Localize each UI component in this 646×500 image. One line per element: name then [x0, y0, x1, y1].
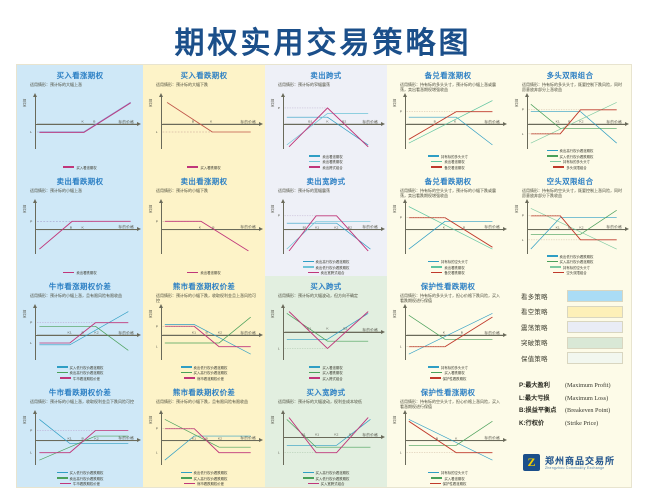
legend-label: 买入高行权价看涨期权: [560, 259, 594, 264]
legend-entry: 卖出看跌期权: [309, 159, 342, 164]
cell-title: 买入跨式: [268, 282, 384, 291]
legend-label: 卖出看跌期权: [76, 270, 96, 275]
curve-legend: 卖出低行权价看跌期权 买入高行权价看跌期权 熊市看跌期权价差: [143, 470, 265, 486]
strategy-cell-bear-call-spread[interactable]: 熊市看涨期权价差 适用情形：预计标的小幅下跌，收取权利金且上涨风险可控 损益 标…: [143, 276, 265, 382]
grid-column-1: 买入看涨期权 适用情形：预计标的大幅上涨 损益 标的价格 K B L: [17, 65, 143, 487]
legend-name: 突破策略: [521, 338, 561, 347]
legend-panel: 看多策略 看空策略 震荡策略 突破策略 保值策略: [509, 276, 631, 487]
curve-legend: 持有标的空头头寸 买入看涨期权 保护性看涨期权: [387, 470, 509, 486]
payoff-plot: 损益 标的价格 K B L: [23, 95, 140, 151]
payoff-curve: B K P: [393, 95, 506, 151]
grid-column-3: 卖出跨式 适用情形：预计标的窄幅震荡 损益 标的价格 B1 K: [265, 65, 387, 487]
payoff-plot: 损益 标的价格 K1 B K2 P L: [149, 412, 262, 468]
strategy-cell-short-strangle[interactable]: 卖出宽跨式 适用情形：预计标的宽幅震荡 损益 标的价格 B1 K1: [265, 171, 387, 277]
cell-desc: 适用情形：预计标的小幅下跌: [156, 188, 258, 193]
legend-name: 看空策略: [521, 307, 561, 316]
payoff-curve: K1 B K2 P L: [23, 306, 140, 362]
payoff-curve: B K P: [23, 201, 140, 257]
legend-entry: 多头双限组合: [553, 165, 586, 170]
cell-title: 卖出看涨期权: [146, 177, 262, 186]
payoff-curve: K1 B K2 P L: [515, 95, 628, 151]
legend-label: 买入低行权价看涨期权: [70, 365, 104, 370]
legend-swatch: [567, 337, 623, 349]
svg-text:K: K: [443, 225, 446, 229]
legend-label: 保护性看跌期权: [443, 376, 467, 381]
cell-title: 卖出跨式: [268, 71, 384, 80]
strategy-grid: 买入看涨期权 适用情形：预计标的大幅上涨 损益 标的价格 K B L: [16, 64, 632, 488]
legend-label: 牛市看涨期权价差: [73, 376, 100, 381]
cell-title: 保护性看涨期权: [390, 388, 506, 397]
payoff-curve: K B P: [393, 201, 506, 257]
legend-label: 买入高行权价看跌期权: [194, 476, 228, 481]
svg-text:K2: K2: [579, 225, 583, 229]
svg-text:K1: K1: [315, 432, 319, 436]
svg-text:L: L: [30, 130, 32, 134]
payoff-curve: B K L: [393, 412, 506, 468]
svg-text:L: L: [278, 450, 280, 454]
legend-label: 买入高行权价看涨期权: [194, 370, 228, 375]
payoff-curve: B1 K1 K2 B2 L: [271, 412, 384, 468]
svg-text:P: P: [400, 215, 402, 219]
svg-text:B: B: [212, 225, 214, 229]
legend-label: 买入跨式组合: [322, 376, 342, 381]
strategy-cell-covered-call[interactable]: 备兑看涨期权 适用情形：持有标的多头头寸，预计标的小幅上涨或震荡，卖出看涨期权增…: [387, 65, 509, 171]
legend-label: 空头双限组合: [566, 270, 586, 275]
legend-entry: 卖出高行权价看跌期权: [57, 476, 104, 481]
legend-row: 震荡策略: [515, 321, 625, 333]
payoff-plot: 损益 标的价格 B K L: [149, 95, 262, 151]
payoff-curve: K1 B K2 P L: [23, 412, 140, 468]
payoff-plot: 损益 标的价格 K1 B K2 P L: [23, 412, 140, 468]
svg-text:P: P: [30, 428, 32, 432]
svg-text:K2: K2: [334, 432, 338, 436]
legend-label: 持有标的空头头寸: [563, 265, 590, 270]
cell-desc: 适用情形：预计标的大幅波动，权利金成本较低: [278, 399, 380, 404]
legend-entry: 卖出跨式组合: [309, 165, 342, 170]
cell-desc: 适用情形：持有标的空头头寸，担心价格上涨风险，买入看涨期权进行保值: [400, 399, 502, 409]
legend-entry: 卖出宽跨式组合: [308, 270, 345, 275]
cell-desc: 适用情形：预计标的大幅下跌: [156, 82, 258, 87]
cell-desc: 适用情形：预计标的小幅下跌，收取权利金且上涨风险可控: [156, 293, 258, 303]
svg-text:B: B: [192, 120, 194, 124]
payoff-plot: 损益 标的价格 K B P: [149, 201, 262, 257]
curve-legend: 卖出看跌期权: [17, 270, 143, 275]
cell-desc: 适用情形：预计标的宽幅震荡: [278, 188, 380, 193]
curve-legend: 买入低行权价看跌期权 卖出高行权价看跌期权 牛市看跌期权价差: [17, 470, 143, 486]
definition-value: (Maximum Profit): [565, 382, 611, 390]
legend-label: 买入看涨期权: [444, 476, 464, 481]
legend-swatch: [567, 352, 623, 364]
cell-desc: 适用情形：预计标的小幅上涨，且有限风险有限收益: [30, 293, 136, 298]
legend-entry: 买入看涨期权: [431, 476, 464, 481]
legend-label: 买入低行权价看跌期权: [560, 154, 594, 159]
legend-label: 卖出高行权价看涨期权: [560, 148, 594, 153]
payoff-plot: 损益 标的价格 B K L: [393, 412, 506, 468]
legend-label: 卖出低行权价看跌期权: [316, 265, 350, 270]
svg-text:P: P: [156, 426, 158, 430]
definition-key: K:行权价: [519, 420, 565, 428]
payoff-curve: K1 B K2 P L: [149, 306, 262, 362]
legend-label: 买入看涨期权: [322, 365, 342, 370]
svg-text:K1: K1: [67, 331, 72, 335]
svg-text:B1: B1: [307, 327, 311, 331]
exchange-logo: Z 郑州商品交易所 Zhengzhou Commodity Exchange: [523, 454, 615, 471]
svg-text:B2: B2: [348, 225, 352, 229]
legend-name: 保值策略: [521, 354, 561, 363]
legend-entry: 持有标的空头头寸: [428, 259, 468, 264]
svg-text:L: L: [156, 345, 158, 349]
logo-name-en: Zhengzhou Commodity Exchange: [545, 466, 615, 470]
svg-text:B: B: [461, 331, 463, 335]
cell-title: 备兑看涨期权: [390, 71, 506, 80]
payoff-plot: 损益 标的价格 B1 K B2 L: [271, 306, 384, 362]
definition-value: (Maximum Loss): [565, 395, 608, 403]
svg-text:P: P: [278, 214, 280, 218]
legend-entry: 牛市看涨期权价差: [60, 376, 100, 381]
legend-entry: 持有标的多头头寸: [550, 159, 590, 164]
legend-entry: 买入低行权价看跌期权: [547, 154, 594, 159]
curve-legend: 卖出低行权价看涨期权 买入高行权价看涨期权 熊市看涨期权价差: [143, 365, 265, 381]
svg-text:L: L: [522, 132, 524, 136]
cell-desc: 适用情形：预计标的小幅下跌，且有限风险有限收益: [156, 399, 258, 404]
strategy-cell-long-put[interactable]: 买入看跌期权 适用情形：预计标的大幅下跌 损益 标的价格 B K L: [143, 65, 265, 171]
legend-label: 买入看跌期权: [444, 370, 464, 375]
payoff-curve: K B L: [23, 95, 140, 151]
payoff-plot: 损益 标的价格 K1 B K2 P L: [23, 306, 140, 362]
legend-entry: 买入低行权价看跌期权: [57, 470, 104, 475]
svg-text:B2: B2: [342, 120, 346, 124]
svg-text:K: K: [455, 436, 458, 440]
cell-desc: 适用情形：预计标的窄幅震荡: [278, 82, 380, 87]
logo-mark-icon: Z: [523, 454, 540, 471]
legend-swatch: [567, 306, 623, 318]
strategy-cell-long-strangle[interactable]: 买入宽跨式 适用情形：预计标的大幅波动，权利金成本较低 损益 标的价格 B1 K…: [265, 382, 387, 488]
svg-text:B1: B1: [302, 432, 306, 436]
svg-text:K2: K2: [579, 120, 583, 124]
svg-text:P: P: [522, 214, 524, 218]
cell-title: 备兑看跌期权: [390, 177, 506, 186]
svg-text:B1: B1: [303, 225, 307, 229]
svg-text:L: L: [400, 345, 402, 349]
strategy-cell-covered-put[interactable]: 备兑看跌期权 适用情形：持有标的空头头寸，预计标的小幅下跌或震荡，卖出看跌期权增…: [387, 171, 509, 277]
grid-column-2: 买入看跌期权 适用情形：预计标的大幅下跌 损益 标的价格 B K L: [143, 65, 265, 487]
svg-text:K1: K1: [315, 225, 319, 229]
payoff-plot: 损益 标的价格 B K P: [23, 201, 140, 257]
legend-label: 持有标的空头头寸: [441, 470, 468, 475]
legend-label: 持有标的多头头寸: [441, 365, 468, 370]
legend-label: 卖出宽跨式组合: [321, 270, 345, 275]
legend-label: 卖出低行权价看跌期权: [194, 470, 228, 475]
curve-legend: 持有标的多头头寸 买入看跌期权 保护性看跌期权: [387, 365, 509, 381]
legend-entry: 买入看跌期权: [431, 370, 464, 375]
svg-text:K2: K2: [334, 225, 338, 229]
svg-text:K: K: [210, 120, 213, 124]
svg-text:L: L: [30, 450, 32, 454]
curve-legend: 买入低行权价看涨期权 卖出高行权价看涨期权 牛市看涨期权价差: [17, 365, 143, 381]
strategy-cell-long-straddle[interactable]: 买入跨式 适用情形：预计标的大幅波动，但方向不确定 损益 标的价格 B1 K: [265, 276, 387, 382]
svg-text:B: B: [82, 331, 84, 335]
curve-legend: 持有标的空头头寸 卖出看跌期权 备兑看跌期权: [387, 259, 509, 275]
legend-entry: 卖出高行权价看涨期权: [547, 148, 594, 153]
cell-title: 卖出宽跨式: [268, 177, 384, 186]
svg-text:L: L: [30, 341, 32, 345]
cell-title: 熊市看涨期权价差: [146, 282, 262, 291]
svg-text:K1: K1: [192, 436, 196, 440]
legend-entry: 保护性看跌期权: [430, 376, 467, 381]
legend-entry: 持有标的多头头寸: [428, 154, 468, 159]
strategy-cell-short-collar[interactable]: 空头双限组合 适用情形：持有标的空头头寸，既要控制上涨风险，同时愿意放弃部分下跌…: [509, 171, 631, 277]
svg-text:L: L: [278, 347, 280, 351]
legend-entry: 持有标的多头头寸: [428, 365, 468, 370]
payoff-plot: 损益 标的价格 B1 K1 K2 B2 L: [271, 412, 384, 468]
legend-label: 卖出看跌期权: [322, 159, 342, 164]
curve-legend: 买入看涨期权 买入看跌期权 买入跨式组合: [265, 365, 387, 381]
legend-entry: 卖出看涨期权: [431, 159, 464, 164]
payoff-plot: 损益 标的价格 K1 B K2 P L: [515, 95, 628, 151]
legend-entry: 卖出低行权价看跌期权: [303, 265, 350, 270]
legend-label: 熊市看涨期权价差: [197, 376, 224, 381]
svg-text:B2: B2: [349, 432, 353, 436]
legend-label: 买入看跌期权: [322, 370, 342, 375]
svg-text:B: B: [93, 120, 95, 124]
cell-title: 买入看涨期权: [20, 71, 140, 80]
curve-legend: 买入看跌期权: [143, 165, 265, 170]
svg-text:B: B: [70, 225, 72, 229]
definition-key: P:最大盈利: [519, 382, 565, 390]
logo-name-cn: 郑州商品交易所: [545, 456, 615, 466]
cell-title: 买入看跌期权: [146, 71, 262, 80]
strategy-cell-bull-put-spread[interactable]: 牛市看跌期权价差 适用情形：预计标的小幅上涨，收取权利金且下跌风险可控 损益 标…: [17, 382, 143, 488]
strategy-cell-protective-put[interactable]: 保护性看跌期权 适用情形：持有标的多头头寸，担心价格下跌风险，买入看跌期权进行保…: [387, 276, 509, 382]
svg-text:L: L: [156, 450, 158, 454]
definition-key: B:损益平衡点: [519, 407, 565, 415]
payoff-curve: B1 K B2 L: [271, 306, 384, 362]
curve-legend: 卖出看涨期权 卖出看跌期权 卖出跨式组合: [265, 154, 387, 170]
svg-text:K2: K2: [218, 436, 222, 440]
payoff-curve: B1 K1 K2 B2 P: [271, 201, 384, 257]
definition-key: L:最大亏损: [519, 395, 565, 403]
svg-text:B: B: [436, 436, 438, 440]
strategy-cell-protective-call[interactable]: 保护性看涨期权 适用情形：持有标的空头头寸，担心价格上涨风险，买入看涨期权进行保…: [387, 382, 509, 488]
strategy-cell-short-call[interactable]: 卖出看涨期权 适用情形：预计标的小幅下跌 损益 标的价格 K B P: [143, 171, 265, 277]
legend-label: 熊市看跌期权价差: [197, 481, 224, 486]
legend-entry: 持有标的空头头寸: [550, 265, 590, 270]
payoff-plot: 损益 标的价格 B1 K B2 P: [271, 95, 384, 151]
svg-text:K1: K1: [67, 436, 72, 440]
payoff-plot: 损益 标的价格 K B L: [393, 306, 506, 362]
legend-label: 备兑看涨期权: [444, 165, 464, 170]
svg-text:B: B: [206, 436, 208, 440]
legend-entry: 买入高行权价看涨期权: [181, 370, 228, 375]
grid-column-5: 多头双限组合 适用情形：持有标的多头头寸，既要控制下跌风险，同时愿意放弃部分上涨…: [509, 65, 631, 487]
legend-row: 保值策略: [515, 352, 625, 364]
legend-label: 牛市看跌期权价差: [73, 481, 100, 486]
legend-entry: 买入看涨期权: [309, 365, 342, 370]
definition-value: (Strike Price): [565, 420, 598, 428]
svg-text:K: K: [82, 120, 85, 124]
svg-text:P: P: [30, 321, 32, 325]
legend-name: 看多策略: [521, 292, 561, 301]
payoff-plot: 损益 标的价格 K B P: [393, 201, 506, 257]
svg-text:K2: K2: [218, 331, 222, 335]
curve-legend: 卖出高行权价看涨期权 卖出低行权价看跌期权 卖出宽跨式组合: [265, 259, 387, 275]
legend-label: 多头双限组合: [566, 165, 586, 170]
svg-text:K: K: [199, 225, 202, 229]
definition-row: L:最大亏损 (Maximum Loss): [519, 395, 625, 403]
cell-desc: 适用情形：持有标的多头头寸，预计标的小幅上涨或震荡，卖出看涨期权增强收益: [400, 82, 502, 92]
curve-legend: 卖出低行权价看跌期权 买入高行权价看涨期权 持有标的空头头寸 空头双限组合: [509, 254, 631, 276]
cell-desc: 适用情形：持有标的多头头寸，担心价格下跌风险，买入看跌期权进行保值: [400, 293, 502, 303]
legend-entry: 牛市看跌期权价差: [60, 481, 100, 486]
legend-entry: 卖出低行权价看跌期权: [181, 470, 228, 475]
legend-label: 卖出高行权价看涨期权: [316, 259, 350, 264]
cell-title: 保护性看跌期权: [390, 282, 506, 291]
legend-label: 备兑看跌期权: [444, 270, 464, 275]
legend-entry: 熊市看跌期权价差: [184, 481, 224, 486]
svg-text:K2: K2: [94, 331, 99, 335]
legend-entry: 买入看跌期权: [309, 370, 342, 375]
definition-value: (Breakeven Point): [565, 407, 610, 415]
svg-text:P: P: [522, 108, 524, 112]
legend-label: 持有标的多头头寸: [563, 159, 590, 164]
strategy-poster: 期权实用交易策略图 买入看涨期权 适用情形：预计标的大幅上涨 损益 标的价格: [0, 0, 646, 500]
legend-entry: 卖出看跌期权: [431, 265, 464, 270]
legend-entry: 保护性看涨期权: [430, 481, 467, 486]
legend-entry: 卖出看跌期权: [63, 270, 96, 275]
legend-row: 看空策略: [515, 306, 625, 318]
payoff-curve: K1 B K2 P L: [515, 201, 628, 257]
legend-entry: 熊市看涨期权价差: [184, 376, 224, 381]
legend-entry: 备兑看跌期权: [431, 270, 464, 275]
payoff-curve: K B L: [393, 306, 506, 362]
svg-text:B: B: [434, 120, 436, 124]
legend-entry: 买入看跌期权: [187, 165, 220, 170]
cell-desc: 适用情形：持有标的空头头寸，预计标的小幅下跌或震荡，卖出看跌期权增强收益: [400, 188, 502, 198]
legend-entry: 买入看涨期权: [63, 165, 96, 170]
legend-row: 突破策略: [515, 337, 625, 349]
legend-label: 卖出看涨期权: [322, 154, 342, 159]
svg-text:L: L: [522, 238, 524, 242]
legend-label: 买入看跌期权: [200, 165, 220, 170]
legend-label: 买入宽跨式组合: [321, 481, 345, 486]
cell-desc: 适用情形：预计标的大幅波动，但方向不确定: [278, 293, 380, 298]
strategy-cell-bull-call-spread[interactable]: 牛市看涨期权价差 适用情形：预计标的小幅上涨，且有限风险有限收益 损益 标的价格…: [17, 276, 143, 382]
curve-legend: 卖出高行权价看涨期权 买入低行权价看跌期权 持有标的多头头寸 多头双限组合: [509, 148, 631, 170]
definitions-list: P:最大盈利 (Maximum Profit) L:最大亏损 (Maximum …: [515, 382, 625, 428]
legend-entry: 卖出高行权价看涨期权: [303, 259, 350, 264]
svg-text:P: P: [278, 106, 280, 110]
cell-title: 空头双限组合: [512, 177, 628, 186]
legend-label: 买入低行权价看跌期权: [316, 476, 350, 481]
payoff-curve: B K L: [149, 95, 262, 151]
svg-text:B: B: [206, 331, 208, 335]
strategy-cell-long-collar[interactable]: 多头双限组合 适用情形：持有标的多头头寸，既要控制下跌风险，同时愿意放弃部分上涨…: [509, 65, 631, 171]
page-title: 期权实用交易策略图: [0, 18, 646, 62]
cell-title: 买入宽跨式: [268, 388, 384, 397]
legend-label: 卖出看跌期权: [444, 265, 464, 270]
svg-text:P: P: [400, 110, 402, 114]
strategy-cell-short-straddle[interactable]: 卖出跨式 适用情形：预计标的窄幅震荡 损益 标的价格 B1 K: [265, 65, 387, 171]
svg-text:K1: K1: [556, 225, 560, 229]
svg-text:P: P: [156, 325, 158, 329]
svg-text:B1: B1: [308, 120, 312, 124]
payoff-curve: B1 K B2 P: [271, 95, 384, 151]
legend-entry: 卖出低行权价看跌期权: [547, 254, 594, 259]
svg-text:K2: K2: [94, 436, 99, 440]
legend-label: 卖出高行权价看跌期权: [70, 476, 104, 481]
legend-entry: 买入高行权价看涨期权: [303, 470, 350, 475]
legend-label: 保护性看涨期权: [443, 481, 467, 486]
legend-label: 卖出低行权价看跌期权: [560, 254, 594, 259]
legend-label: 买入高行权价看涨期权: [316, 470, 350, 475]
legend-swatch: [567, 321, 623, 333]
svg-text:B2: B2: [343, 327, 347, 331]
strategy-cell-bear-put-spread[interactable]: 熊市看跌期权价差 适用情形：预计标的小幅下跌，且有限风险有限收益 损益 标的价格…: [143, 382, 265, 488]
payoff-curve: K1 B K2 P L: [149, 412, 262, 468]
legend-label: 买入看涨期权: [76, 165, 96, 170]
payoff-plot: 损益 标的价格 K1 B K2 P L: [515, 201, 628, 257]
curve-legend: 卖出看涨期权: [143, 270, 265, 275]
legend-entry: 备兑看涨期权: [431, 165, 464, 170]
cell-desc: 适用情形：持有标的多头头寸，既要控制下跌风险，同时愿意放弃部分上涨收益: [522, 82, 624, 92]
strategy-cell-long-call[interactable]: 买入看涨期权 适用情形：预计标的大幅上涨 损益 标的价格 K B L: [17, 65, 143, 171]
svg-text:P: P: [156, 219, 158, 223]
cell-title: 卖出看跌期权: [20, 177, 140, 186]
grid-column-4: 备兑看涨期权 适用情形：持有标的多头头寸，预计标的小幅上涨或震荡，卖出看涨期权增…: [387, 65, 509, 487]
svg-text:K: K: [326, 327, 329, 331]
cell-title: 多头双限组合: [512, 71, 628, 80]
legend-label: 卖出高行权价看涨期权: [70, 370, 104, 375]
svg-text:B: B: [568, 120, 570, 124]
legend-label: 持有标的多头头寸: [441, 154, 468, 159]
strategy-cell-short-put[interactable]: 卖出看跌期权 适用情形：预计标的小幅上涨 损益 标的价格 B K P: [17, 171, 143, 277]
cell-desc: 适用情形：预计标的大幅上涨: [30, 82, 136, 87]
legend-row: 看多策略: [515, 290, 625, 302]
legend-entry: 卖出看涨期权: [187, 270, 220, 275]
svg-text:K: K: [82, 225, 85, 229]
svg-text:K: K: [454, 120, 457, 124]
legend-entry: 持有标的空头头寸: [428, 470, 468, 475]
svg-text:B: B: [568, 225, 570, 229]
definition-row: K:行权价 (Strike Price): [519, 420, 625, 428]
definition-row: P:最大盈利 (Maximum Profit): [519, 382, 625, 390]
svg-text:K: K: [443, 331, 446, 335]
curve-legend: 买入高行权价看涨期权 买入低行权价看跌期权 买入宽跨式组合: [265, 470, 387, 486]
legend-entry: 买入跨式组合: [309, 376, 342, 381]
svg-text:L: L: [156, 130, 158, 134]
svg-text:P: P: [30, 219, 32, 223]
legend-entry: 空头双限组合: [553, 270, 586, 275]
legend-label: 卖出看涨期权: [200, 270, 220, 275]
legend-swatch: [567, 290, 623, 302]
legend-label: 卖出跨式组合: [322, 165, 342, 170]
legend-entry: 买入高行权价看跌期权: [181, 476, 228, 481]
cell-title: 牛市看跌期权价差: [20, 388, 140, 397]
legend-entry: 卖出看涨期权: [309, 154, 342, 159]
curve-legend: 持有标的多头头寸 卖出看涨期权 备兑看涨期权: [387, 154, 509, 170]
legend-entry: 卖出低行权价看涨期权: [181, 365, 228, 370]
definition-row: B:损益平衡点 (Breakeven Point): [519, 407, 625, 415]
curve-legend: 买入看涨期权: [17, 165, 143, 170]
svg-text:K: K: [326, 120, 329, 124]
payoff-plot: 损益 标的价格 K1 B K2 P L: [149, 306, 262, 362]
cell-title: 熊市看跌期权价差: [146, 388, 262, 397]
svg-text:B: B: [463, 225, 465, 229]
cell-title: 牛市看涨期权价差: [20, 282, 140, 291]
payoff-curve: K B P: [149, 201, 262, 257]
svg-text:K1: K1: [192, 331, 196, 335]
cell-desc: 适用情形：预计标的小幅上涨: [30, 188, 136, 193]
